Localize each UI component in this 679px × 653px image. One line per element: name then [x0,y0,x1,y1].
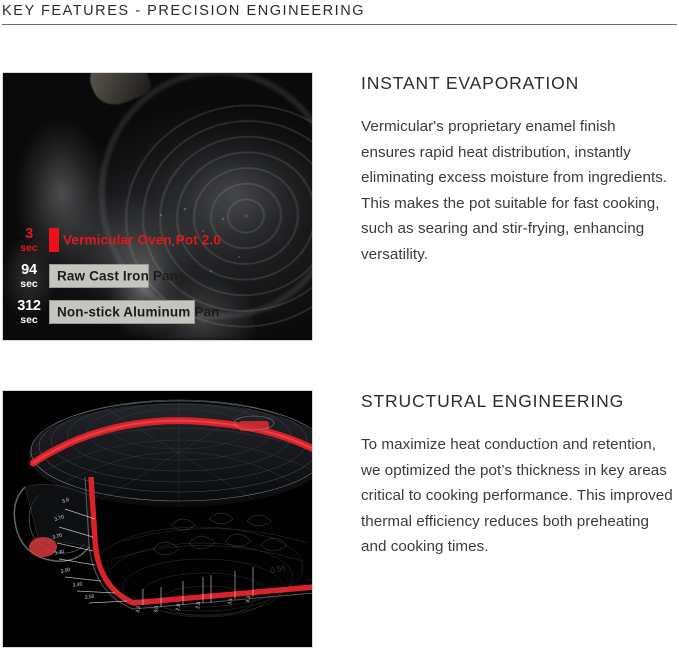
feature-copy-instant-evaporation: INSTANT EVAPORATION Vermicular's proprie… [361,72,673,267]
evaporation-bar-chart: 3 sec Vermicular Oven Pot 2.0 94 sec [3,222,313,330]
feature-heading: STRUCTURAL ENGINEERING [361,390,673,412]
bar-time-unit: sec [11,243,47,254]
feature-body: To maximize heat conduction and retentio… [361,432,673,560]
feature-image-structural-engineering: 5.0 3.70 3.70 3.30 3.00 3.40 3.50 3.2 3.… [2,390,313,648]
chart-row: 94 sec Raw Cast Iron Pan [11,258,313,294]
chart-row: 3 sec Vermicular Oven Pot 2.0 [11,222,313,258]
svg-text:3.30: 3.30 [54,549,65,557]
chart-row: 312 sec Non-stick Aluminum Pan [11,294,313,330]
cad-wireframe-diagram: 5.0 3.70 3.70 3.30 3.00 3.40 3.50 3.2 3.… [3,391,312,647]
feature-copy-structural-engineering: STRUCTURAL ENGINEERING To maximize heat … [361,390,673,560]
bar-time-unit: sec [11,315,47,326]
bar-track: Raw Cast Iron Pan [49,264,313,288]
svg-text:3.0: 3.0 [153,605,160,613]
feature-body: Vermicular's proprietary enamel finish e… [361,114,673,267]
section-header: KEY FEATURES - PRECISION ENGINEERING [2,0,677,25]
bar-fill [49,228,59,252]
bar-time-number: 94 [11,263,47,278]
bar-label: Vermicular Oven Pot 2.0 [63,233,221,248]
bar-track: Vermicular Oven Pot 2.0 [49,228,313,252]
svg-text:2.8: 2.8 [195,601,202,609]
svg-text:0.55: 0.55 [270,563,288,575]
cad-wireframe-svg: 5.0 3.70 3.70 3.30 3.00 3.40 3.50 3.2 3.… [3,391,312,647]
svg-text:3.40: 3.40 [72,581,83,589]
page-title: KEY FEATURES - PRECISION ENGINEERING [2,0,677,24]
bar-time-value: 94 sec [11,263,47,289]
bar-time-unit: sec [11,279,47,290]
bar-label: Non-stick Aluminum Pan [57,305,220,320]
bar-time-number: 312 [11,299,47,314]
feature-heading: INSTANT EVAPORATION [361,72,673,94]
feature-image-instant-evaporation: 3 sec Vermicular Oven Pot 2.0 94 sec [2,72,313,341]
svg-text:3.1: 3.1 [227,597,234,605]
svg-text:2.9: 2.9 [175,603,182,611]
bar-time-number: 3 [11,227,47,242]
bar-time-value: 3 sec [11,227,47,253]
key-features-page: KEY FEATURES - PRECISION ENGINEERING 3 s… [0,0,679,653]
svg-text:3.50: 3.50 [84,594,95,601]
svg-text:3.3: 3.3 [245,595,252,603]
bar-label: Raw Cast Iron Pan [57,269,178,284]
bar-track: Non-stick Aluminum Pan [49,300,313,324]
svg-text:3.2: 3.2 [135,605,142,613]
svg-text:3.00: 3.00 [60,567,71,575]
header-divider [2,24,677,25]
bar-time-value: 312 sec [11,299,47,325]
